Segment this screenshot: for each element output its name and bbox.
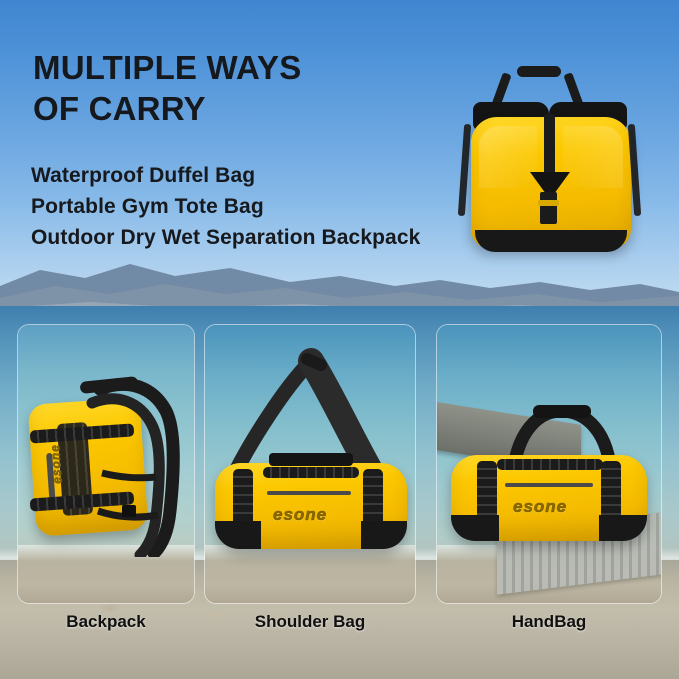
hero-strap-tail: [540, 192, 557, 224]
product-marketing-image: MULTIPLE WAYS OF CARRY Waterproof Duffel…: [0, 0, 679, 679]
headline-line-1: MULTIPLE WAYS: [33, 47, 463, 88]
subtitle-line-2: Portable Gym Tote Bag: [31, 191, 501, 222]
headline-line-2: OF CARRY: [33, 88, 463, 129]
shoulder-bag-logo: esone: [273, 505, 327, 525]
carry-mode-panels: esone: [0, 325, 679, 603]
caption-backpack: Backpack: [18, 612, 194, 632]
subtitle-block: Waterproof Duffel Bag Portable Gym Tote …: [31, 160, 501, 253]
handbag-zipper: [505, 483, 593, 487]
handbag-corner-right: [599, 515, 647, 541]
panel-shoulder-bag[interactable]: esone: [205, 325, 415, 603]
hero-center-strap: [544, 114, 555, 176]
subtitle-line-3: Outdoor Dry Wet Separation Backpack: [31, 222, 501, 253]
handbag-corner-left: [451, 515, 499, 541]
caption-handbag: HandBag: [437, 612, 661, 632]
subtitle-line-1: Waterproof Duffel Bag: [31, 160, 501, 191]
hero-side-webbing-left: [458, 124, 471, 216]
hero-handle-grip: [517, 66, 561, 77]
shoulder-bag-handle-pad: [269, 453, 353, 466]
shoulder-bag: esone: [211, 345, 411, 565]
hero-duffel-bag-end-view: [455, 62, 660, 257]
hero-fold-right: [563, 126, 623, 188]
backpack-shoulder-straps: [82, 377, 186, 557]
shoulder-bag-zipper: [267, 491, 351, 495]
hero-strap-keeper: [538, 200, 559, 206]
shoulder-bag-top-webbing: [263, 467, 359, 478]
backpack-logo: esone: [47, 444, 64, 485]
handbag-top-webbing: [497, 459, 603, 470]
hero-bottom-rim: [475, 230, 627, 252]
caption-shoulder-bag: Shoulder Bag: [205, 612, 415, 632]
panel-handbag[interactable]: esone: [437, 325, 661, 603]
handbag: esone: [451, 411, 651, 551]
backpack-bag: esone: [32, 387, 182, 547]
shoulder-bag-corner-right: [361, 521, 407, 549]
panel-backpack[interactable]: esone: [18, 325, 194, 603]
handbag-logo: esone: [513, 497, 567, 517]
shoulder-bag-corner-left: [215, 521, 261, 549]
headline: MULTIPLE WAYS OF CARRY: [33, 47, 463, 129]
